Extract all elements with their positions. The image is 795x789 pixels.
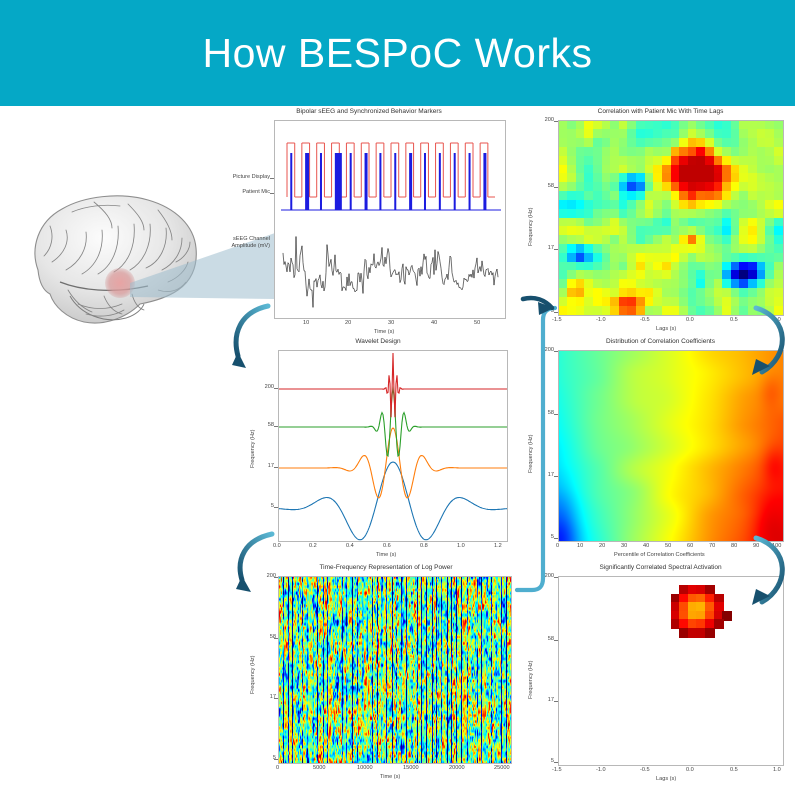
xtick: 0.6 bbox=[383, 543, 391, 549]
xtick: 20 bbox=[345, 320, 351, 326]
panel-time-frequency-power-title: Time-Frequency Representation of Log Pow… bbox=[256, 564, 516, 571]
ytick: 58 bbox=[254, 634, 276, 640]
xtick: 40 bbox=[431, 320, 437, 326]
panel-raw-signal-plot bbox=[274, 120, 506, 319]
xtick: 0 bbox=[556, 543, 559, 549]
panel-correlation-lags-title: Correlation with Patient Mic With Time L… bbox=[536, 108, 785, 115]
xtick: 25000 bbox=[494, 765, 510, 771]
panel-significant-activation-plot bbox=[558, 576, 784, 766]
xtick: -1.0 bbox=[596, 767, 606, 773]
ytick: 17 bbox=[254, 694, 276, 700]
xtick: -1.0 bbox=[596, 317, 606, 323]
ytick: 58 bbox=[532, 183, 554, 189]
xtick: 1.0 bbox=[773, 317, 781, 323]
ytick: 5 bbox=[532, 308, 554, 314]
ytick: 5 bbox=[532, 758, 554, 764]
panel-wavelet-design-ylabel: Frequency (Hz) bbox=[250, 429, 256, 468]
ytick: 58 bbox=[532, 636, 554, 642]
panel-time-frequency-power-xlabel: Time (s) bbox=[380, 774, 400, 780]
tickmark bbox=[274, 426, 278, 427]
title-banner: How BESPoC Works bbox=[0, 0, 795, 106]
xtick: 1.0 bbox=[457, 543, 465, 549]
ytick-picture-display: Picture Display bbox=[224, 174, 270, 180]
ytick: 200 bbox=[532, 117, 554, 123]
panel-wavelet-design: Wavelet Design 200 58 17 5 Frequency (Hz… bbox=[246, 338, 510, 566]
tickmark bbox=[270, 193, 274, 194]
tickmark bbox=[554, 351, 558, 352]
xtick: -0.5 bbox=[640, 767, 650, 773]
panel-raw-signal-xlabel: Time (s) bbox=[374, 329, 394, 335]
panel-significant-activation-xlabel: Lags (s) bbox=[656, 776, 676, 782]
xtick: 100 bbox=[772, 543, 781, 549]
panel-correlation-lags-xlabel: Lags (s) bbox=[656, 326, 676, 332]
xtick: 50 bbox=[665, 543, 671, 549]
ytick-seeg-amplitude: sEEG ChannelAmplitude (mV) bbox=[222, 236, 270, 249]
xtick: 10 bbox=[303, 320, 309, 326]
ytick-patient-mic: Patient Mic bbox=[224, 189, 270, 195]
xtick: 0.5 bbox=[730, 767, 738, 773]
panel-wavelet-design-plot bbox=[278, 350, 508, 542]
xtick: 0.0 bbox=[686, 317, 694, 323]
xtick: 0.4 bbox=[346, 543, 354, 549]
tickmark bbox=[274, 638, 278, 639]
ytick: 200 bbox=[532, 347, 554, 353]
xtick: 30 bbox=[621, 543, 627, 549]
tickmark bbox=[274, 507, 278, 508]
xtick: -1.5 bbox=[552, 317, 562, 323]
ytick: 5 bbox=[254, 755, 276, 761]
panel-distribution-coefficients: Distribution of Correlation Coefficients… bbox=[516, 338, 795, 566]
tickmark bbox=[554, 640, 558, 641]
ytick: 200 bbox=[254, 573, 276, 579]
tickmark bbox=[554, 577, 558, 578]
page-title: How BESPoC Works bbox=[202, 30, 592, 77]
panel-distribution-coefficients-plot bbox=[558, 350, 784, 542]
xtick: 15000 bbox=[403, 765, 419, 771]
xtick: 0.0 bbox=[686, 767, 694, 773]
panel-raw-signal-title: Bipolar sEEG and Synchronized Behavior M… bbox=[228, 108, 510, 115]
ytick: 200 bbox=[532, 573, 554, 579]
xtick: 0.5 bbox=[730, 317, 738, 323]
ytick: 5 bbox=[532, 534, 554, 540]
xtick: 80 bbox=[731, 543, 737, 549]
tickmark bbox=[274, 698, 278, 699]
tickmark bbox=[274, 577, 278, 578]
xtick: 0.8 bbox=[420, 543, 428, 549]
xtick: 1.2 bbox=[494, 543, 502, 549]
xtick: 0 bbox=[276, 765, 279, 771]
xtick: -0.5 bbox=[640, 317, 650, 323]
panel-significant-activation-title: Significantly Correlated Spectral Activa… bbox=[536, 564, 785, 571]
ytick: 17 bbox=[532, 697, 554, 703]
panel-time-frequency-power: Time-Frequency Representation of Log Pow… bbox=[246, 564, 522, 789]
panel-wavelet-design-xlabel: Time (s) bbox=[376, 552, 396, 558]
tickmark bbox=[554, 312, 558, 313]
panel-raw-signal: Bipolar sEEG and Synchronized Behavior M… bbox=[228, 108, 510, 340]
tickmark bbox=[554, 476, 558, 477]
tickmark bbox=[554, 701, 558, 702]
panel-significant-activation: Significantly Correlated Spectral Activa… bbox=[516, 564, 795, 789]
ytick: 200 bbox=[252, 384, 274, 390]
ytick: 17 bbox=[532, 245, 554, 251]
xtick: 0.0 bbox=[273, 543, 281, 549]
tickmark bbox=[554, 762, 558, 763]
tickmark bbox=[274, 759, 278, 760]
xtick: 10 bbox=[577, 543, 583, 549]
xtick: 0.2 bbox=[309, 543, 317, 549]
xtick: 10000 bbox=[357, 765, 373, 771]
tickmark bbox=[554, 249, 558, 250]
panel-time-frequency-power-plot bbox=[278, 576, 512, 764]
tickmark bbox=[270, 178, 274, 179]
ytick: 17 bbox=[532, 472, 554, 478]
panel-significant-activation-ylabel: Frequency (Hz) bbox=[528, 660, 534, 699]
panel-wavelet-design-title: Wavelet Design bbox=[246, 338, 510, 345]
tickmark bbox=[554, 414, 558, 415]
panel-distribution-coefficients-title: Distribution of Correlation Coefficients bbox=[536, 338, 785, 345]
xtick: 1.0 bbox=[773, 767, 781, 773]
panel-distribution-coefficients-ylabel: Frequency (Hz) bbox=[528, 434, 534, 473]
xtick: 30 bbox=[388, 320, 394, 326]
xtick: 5000 bbox=[313, 765, 325, 771]
xtick: 60 bbox=[687, 543, 693, 549]
xtick: 70 bbox=[709, 543, 715, 549]
tickmark bbox=[554, 187, 558, 188]
panel-correlation-lags-plot bbox=[558, 120, 784, 316]
panel-distribution-coefficients-xlabel: Percentile of Correlation Coefficients bbox=[614, 552, 705, 558]
tickmark bbox=[554, 121, 558, 122]
xtick: -1.5 bbox=[552, 767, 562, 773]
tickmark bbox=[554, 538, 558, 539]
ytick: 58 bbox=[532, 410, 554, 416]
ytick: 58 bbox=[252, 422, 274, 428]
panel-correlation-lags: Correlation with Patient Mic With Time L… bbox=[516, 108, 795, 340]
tickmark bbox=[274, 388, 278, 389]
xtick: 20 bbox=[599, 543, 605, 549]
panel-correlation-lags-ylabel: Frequency (Hz) bbox=[528, 207, 534, 246]
xtick: 90 bbox=[753, 543, 759, 549]
xtick: 50 bbox=[474, 320, 480, 326]
tickmark bbox=[274, 467, 278, 468]
ytick: 5 bbox=[252, 503, 274, 509]
xtick: 40 bbox=[643, 543, 649, 549]
panel-time-frequency-power-ylabel: Frequency (Hz) bbox=[250, 655, 256, 694]
xtick: 20000 bbox=[449, 765, 465, 771]
